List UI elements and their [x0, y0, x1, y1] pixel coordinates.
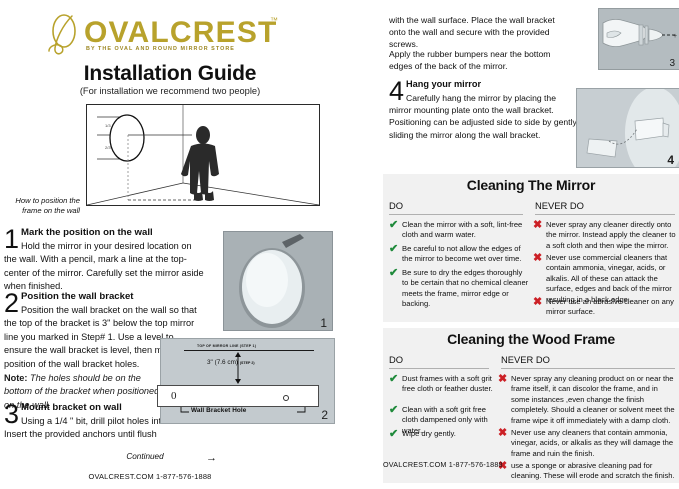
- svg-text:1/3: 1/3: [105, 123, 111, 128]
- check-icon: ✔: [389, 220, 402, 241]
- cleaning-frame-never-item: ✖ Never spray any cleaning product on or…: [498, 374, 678, 426]
- continued-label: Continued: [0, 452, 290, 461]
- continued-arrow-icon: →: [206, 452, 217, 464]
- bracket-dimension-value: 3" (7.6 cm): [207, 359, 238, 366]
- brand-logo: OVALCREST ™ BY THE OVAL AND ROUND MIRROR…: [38, 12, 328, 56]
- cleaning-mirror-do-item: ✔ Be sure to dry the edges thoroughly to…: [389, 268, 529, 310]
- cleaning-mirror-never-header: NEVER DO: [535, 200, 584, 211]
- cleaning-mirror-do-item: ✔ Clean the mirror with a soft, lint-fre…: [389, 220, 527, 241]
- cleaning-mirror-do-rule: [389, 214, 523, 215]
- brand-name: OVALCREST: [84, 16, 278, 50]
- cleaning-frame-never-rule: [501, 368, 675, 369]
- cleaning-frame-do-item-text: Wipe dry gently.: [402, 429, 456, 440]
- room-diagram-svg: 1/3 2/3: [87, 105, 319, 205]
- cleaning-frame-never-item: ✖ Never use any cleaners that contain am…: [498, 428, 678, 459]
- cleaning-frame-never-header: NEVER DO: [501, 354, 550, 365]
- figure-4-svg: [577, 89, 679, 167]
- cleaning-frame-do-rule: [389, 368, 489, 369]
- cleaning-mirror-panel: Cleaning The Mirror DO NEVER DO ✔ Clean …: [383, 174, 679, 322]
- step-1-heading: Mark the position on the wall: [21, 227, 153, 238]
- bracket-rail: [157, 385, 319, 407]
- cleaning-mirror-title: Cleaning The Mirror: [383, 177, 679, 193]
- figure-1-svg: [224, 232, 332, 330]
- figure-3-drill-photo: + 3: [598, 8, 679, 70]
- cleaning-mirror-do-item-text: Clean the mirror with a soft, lint-free …: [402, 220, 527, 241]
- cleaning-frame-do-item: ✔ Dust frames with a soft grit free clot…: [389, 374, 495, 395]
- figure-2-bracket-diagram: TOP OF MIRROR LINE (STEP 1) 3" (7.6 cm) …: [160, 338, 335, 424]
- continuation-paragraph-2: Apply the rubber bumpers near the bottom…: [389, 48, 567, 72]
- cleaning-mirror-never-item-text: Never spray any cleaner directly onto th…: [546, 220, 677, 251]
- page-title: Installation Guide: [0, 62, 340, 86]
- bracket-hole-left-icon: 0: [171, 390, 177, 402]
- cleaning-mirror-do-item: ✔ Be careful to not allow the edges of t…: [389, 244, 527, 265]
- figure-1-label: 1: [320, 316, 327, 330]
- mirror-line-label: TOP OF MIRROR LINE (STEP 1): [197, 344, 256, 348]
- bracket-hole-right-icon: [283, 395, 289, 401]
- step-2-note-label: Note:: [4, 373, 27, 383]
- cleaning-frame-never-item-text: Never use any cleaners that contain ammo…: [511, 428, 678, 459]
- brand-tagline: BY THE OVAL AND ROUND MIRROR STORE: [86, 46, 235, 52]
- cleaning-frame-title: Cleaning the Wood Frame: [383, 331, 679, 347]
- page-subtitle: (For installation we recommend two peopl…: [0, 86, 340, 96]
- step-2-heading: Position the wall bracket: [21, 291, 134, 302]
- figure-4-label: 4: [667, 153, 674, 167]
- left-column: OVALCREST ™ BY THE OVAL AND ROUND MIRROR…: [0, 0, 372, 489]
- figure-3-label: 3: [669, 58, 675, 69]
- bracket-dimension: 3" (7.6 cm) (STEP 2): [207, 359, 255, 366]
- figure-4-hanging-photo: 4: [576, 88, 679, 168]
- check-icon: ✔: [389, 374, 402, 395]
- installation-guide-page: OVALCREST ™ BY THE OVAL AND ROUND MIRROR…: [0, 0, 679, 489]
- cleaning-frame-never-item: ✖ use a sponge or abrasive cleaning pad …: [498, 461, 678, 482]
- cross-icon: ✖: [498, 374, 511, 426]
- dimension-arrows-icon: [233, 351, 243, 385]
- figure-2-label: 2: [321, 408, 328, 422]
- cleaning-frame-never-item-text: use a sponge or abrasive cleaning pad fo…: [511, 461, 678, 482]
- cleaning-mirror-never-item: ✖ Never spray any cleaner directly onto …: [533, 220, 677, 251]
- check-icon: ✔: [389, 429, 402, 440]
- cleaning-mirror-never-item: ✖ Never use an abrasive cleaner on any m…: [533, 297, 677, 318]
- wall-bracket-hole-label: Wall Bracket Hole: [191, 407, 246, 414]
- footer-left: OVALCREST.COM 1-877-576-1888: [0, 472, 300, 481]
- cross-icon: ✖: [533, 220, 546, 251]
- cleaning-mirror-never-item-text: Never use an abrasive cleaner on any mir…: [546, 297, 677, 318]
- continuation-paragraph-1: with the wall surface. Place the wall br…: [389, 14, 567, 51]
- footer-right: OVALCREST.COM 1-877-576-1888: [383, 460, 503, 469]
- cross-icon: ✖: [498, 428, 511, 459]
- figure-3-svg: +: [599, 9, 679, 69]
- cleaning-frame-do-item-text: Dust frames with a soft grit free cloth …: [402, 374, 495, 395]
- oval-swirl-icon: [42, 12, 86, 56]
- check-icon: ✔: [389, 268, 402, 310]
- cleaning-frame-do-item: ✔ Wipe dry gently.: [389, 429, 495, 440]
- trademark-symbol: ™: [270, 16, 278, 25]
- figure-1-mirror-photo: 1: [223, 231, 333, 331]
- cleaning-frame-never-item-text: Never spray any cleaning product on or n…: [511, 374, 678, 426]
- room-diagram-caption: How to position the frame on the wall: [2, 196, 80, 217]
- step-3-heading: Mount bracket on wall: [21, 402, 122, 413]
- bracket-dimension-step: (STEP 2): [240, 361, 255, 365]
- step-4-body: Carefully hang the mirror by placing the…: [389, 92, 579, 141]
- cleaning-mirror-never-rule: [535, 214, 675, 215]
- cross-icon: ✖: [533, 297, 546, 318]
- room-position-diagram: 1/3 2/3: [86, 104, 320, 206]
- mirror-line-rule: [184, 350, 314, 351]
- svg-text:+: +: [673, 33, 677, 40]
- check-icon: ✔: [389, 244, 402, 265]
- right-column: with the wall surface. Place the wall br…: [383, 0, 679, 489]
- cleaning-mirror-do-item-text: Be sure to dry the edges thoroughly to b…: [402, 268, 529, 310]
- step-4-heading: Hang your mirror: [406, 79, 481, 89]
- cleaning-frame-do-header: DO: [389, 354, 403, 365]
- cleaning-mirror-do-header: DO: [389, 200, 403, 211]
- step-1-body: Hold the mirror in your desired location…: [4, 240, 204, 294]
- cleaning-mirror-do-item-text: Be careful to not allow the edges of the…: [402, 244, 527, 265]
